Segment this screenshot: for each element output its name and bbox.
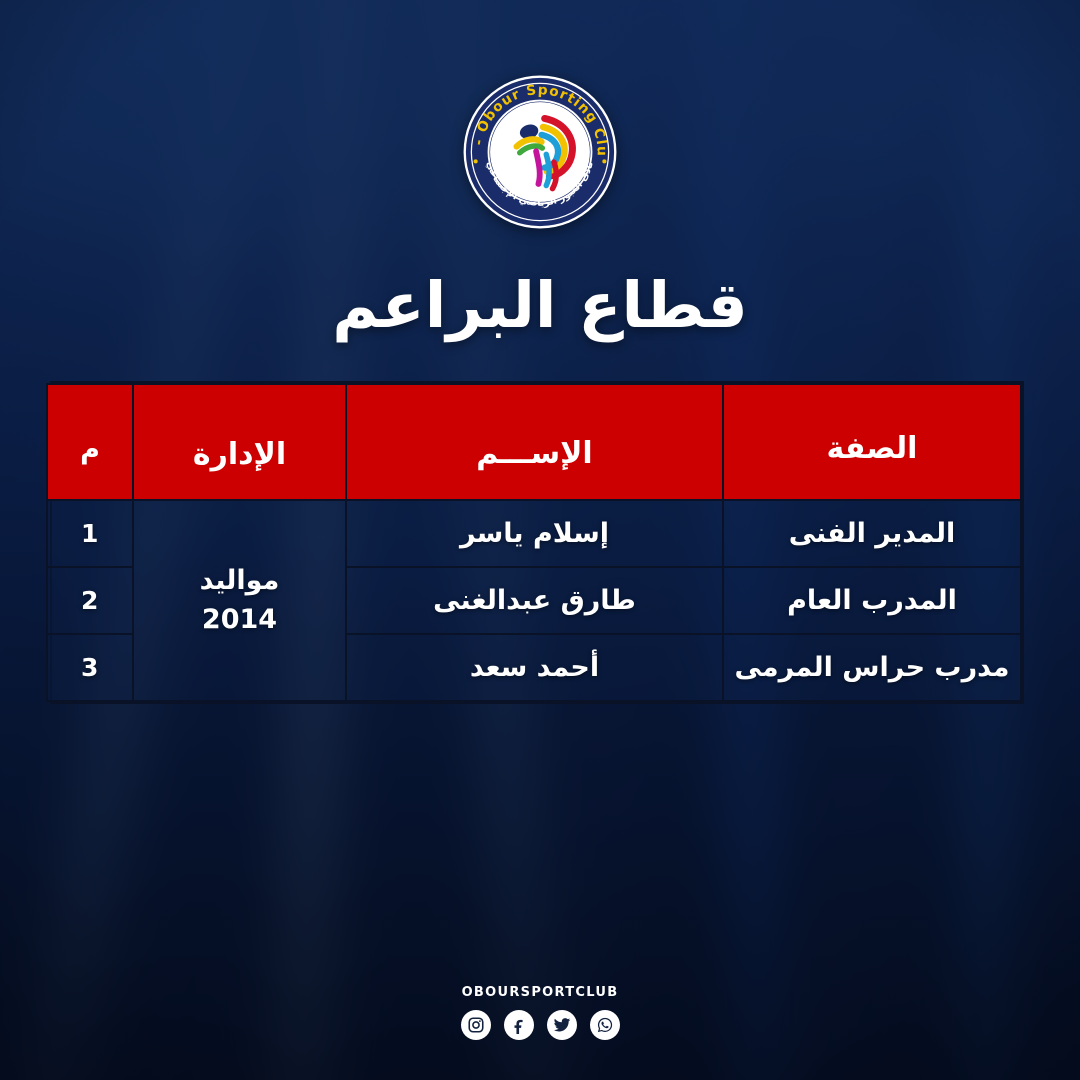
column-header-number: م bbox=[47, 384, 133, 500]
cell-name: إسلام ياسر bbox=[346, 500, 723, 567]
cell-name: أحمد سعد bbox=[346, 634, 723, 701]
cell-number: 1 bbox=[47, 500, 133, 567]
column-header-role: الصفة bbox=[723, 384, 1021, 500]
table-header-row: الصفة الإســـم الإدارة م bbox=[47, 384, 1021, 500]
cell-number: 3 bbox=[47, 634, 133, 701]
cell-admin-group: مواليد 2014 bbox=[133, 500, 346, 701]
facebook-icon[interactable] bbox=[504, 1010, 534, 1040]
poster-canvas: El - Obour Sporting Club نادى العبور الر… bbox=[0, 0, 1080, 1080]
cell-number: 2 bbox=[47, 567, 133, 634]
table-row: المدير الفنى إسلام ياسر مواليد 2014 1 bbox=[47, 500, 1021, 567]
instagram-icon[interactable] bbox=[461, 1010, 491, 1040]
roster-table: الصفة الإســـم الإدارة م المدير الفنى إس… bbox=[50, 381, 1024, 704]
cell-role: مدرب حراس المرمى bbox=[723, 634, 1021, 701]
column-header-name: الإســـم bbox=[346, 384, 723, 500]
social-handle: OBOURSPORTCLUB bbox=[0, 985, 1080, 1000]
footer: OBOURSPORTCLUB bbox=[0, 985, 1080, 1040]
twitter-icon[interactable] bbox=[547, 1010, 577, 1040]
page-title: قطاع البراعم bbox=[0, 274, 1080, 337]
column-header-admin: الإدارة bbox=[133, 384, 346, 500]
poster-content: El - Obour Sporting Club نادى العبور الر… bbox=[0, 0, 1080, 1080]
social-links bbox=[0, 1010, 1080, 1040]
cell-role: المدير الفنى bbox=[723, 500, 1021, 567]
whatsapp-icon[interactable] bbox=[590, 1010, 620, 1040]
club-logo: El - Obour Sporting Club نادى العبور الر… bbox=[462, 74, 618, 230]
admin-group-year: 2014 bbox=[144, 601, 335, 639]
cell-role: المدرب العام bbox=[723, 567, 1021, 634]
admin-group-label: مواليد bbox=[200, 565, 280, 596]
cell-name: طارق عبدالغنى bbox=[346, 567, 723, 634]
club-logo-icon: El - Obour Sporting Club نادى العبور الر… bbox=[462, 74, 618, 230]
